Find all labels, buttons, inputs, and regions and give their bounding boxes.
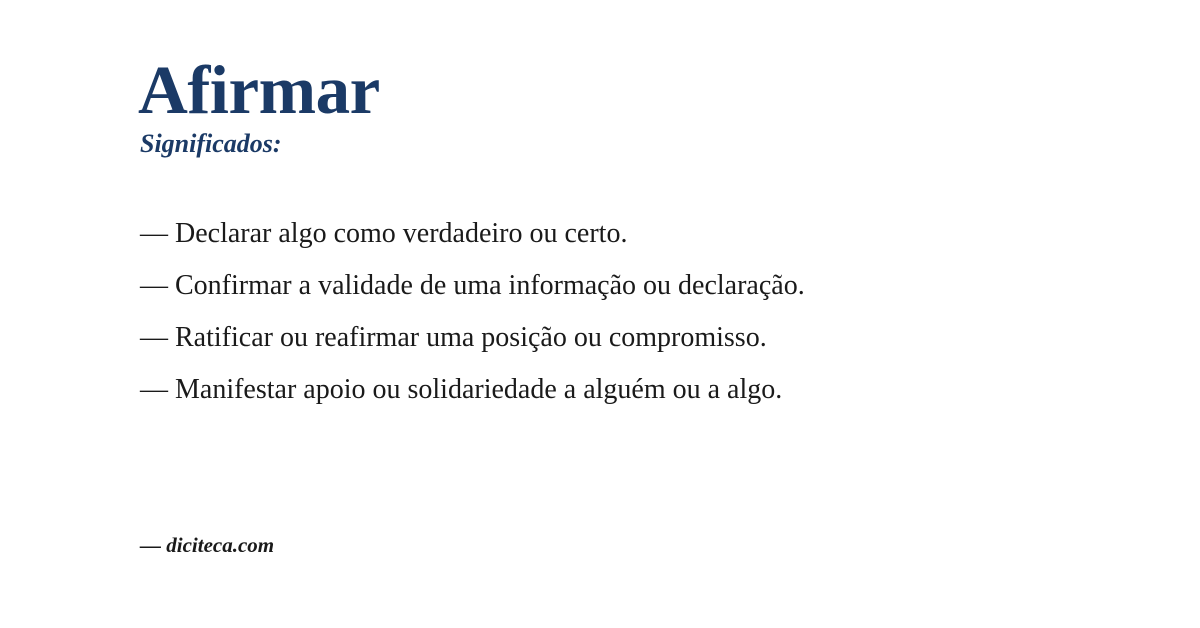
meanings-heading: Significados: [140,128,282,159]
definition-card: Afirmar Significados: — Declarar algo co… [0,0,1200,628]
list-item: — Declarar algo como verdadeiro ou certo… [140,216,1080,251]
source-attribution: — diciteca.com [140,533,274,558]
list-item: — Manifestar apoio ou solidariedade a al… [140,372,1080,407]
page-title: Afirmar [138,56,380,125]
list-item: — Ratificar ou reafirmar uma posição ou … [140,320,1080,355]
list-item: — Confirmar a validade de uma informação… [140,268,1080,303]
meanings-list: — Declarar algo como verdadeiro ou certo… [140,216,1080,407]
